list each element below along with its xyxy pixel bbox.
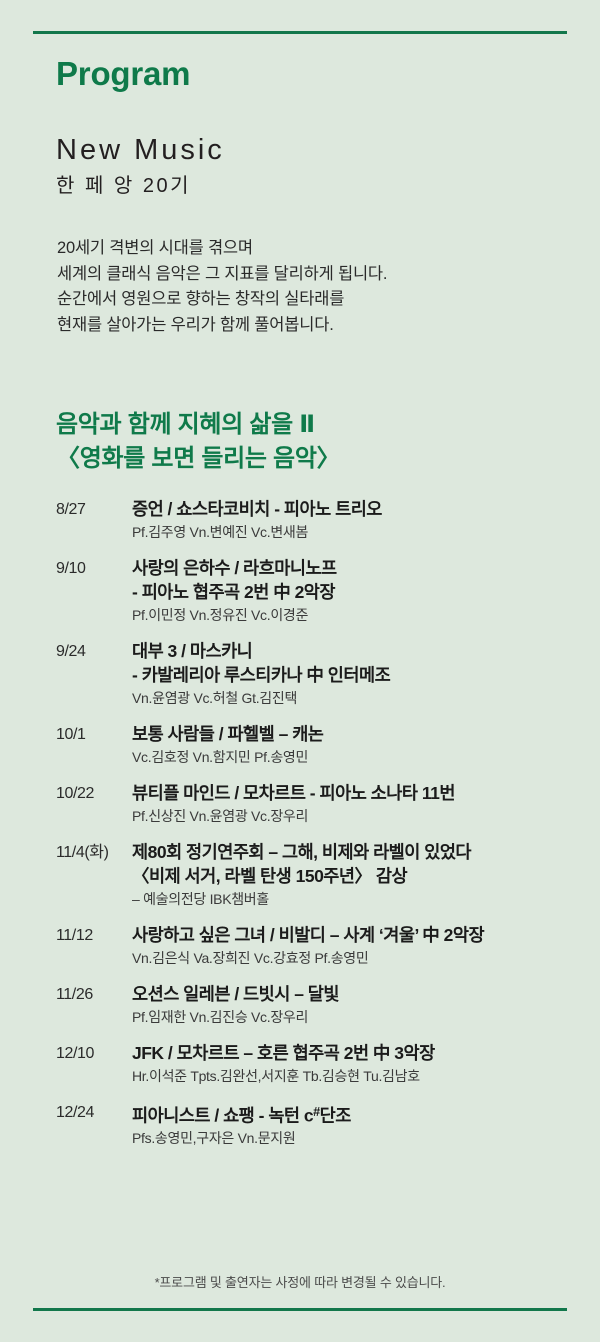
list-item: 11/26 오션스 일레븐 / 드빗시 – 달빛 Pf.임재한 Vn.김진승 V… [0,982,600,1028]
ensemble-name-korean: 한 페 앙 20기 [56,176,191,196]
entry-title-prefix: 피아니스트 / 쇼팽 - 녹턴 c [132,1105,313,1125]
entry-date: 11/4(화) [56,840,132,865]
program-poster: Program New Music 한 페 앙 20기 20세기 격변의 시대를… [0,0,600,1342]
entry-title: 사랑의 은하수 / 라흐마니노프 - 피아노 협주곡 2번 中 2악장 [132,556,600,604]
entry-performers: Vn.김은식 Va.장희진 Vc.강효정 Pf.송영민 [132,948,600,969]
entry-title: 사랑하고 싶은 그녀 / 비발디 – 사계 ‘겨울’ 中 2악장 [132,923,600,947]
entry-date: 10/22 [56,781,132,806]
program-list: 8/27 증언 / 쇼스타코비치 - 피아노 트리오 Pf.김주영 Vn.변예진… [0,497,600,1162]
list-item: 11/12 사랑하고 싶은 그녀 / 비발디 – 사계 ‘겨울’ 中 2악장 V… [0,923,600,969]
entry-date: 9/10 [56,556,132,581]
ensemble-name-english: New Music [56,136,225,165]
section-heading: 음악과 함께 지혜의 삶을 Ⅱ 〈영화를 보면 들리는 음악〉 [56,408,340,476]
entry-date: 10/1 [56,722,132,747]
entry-performers: Pf.임재한 Vn.김진승 Vc.장우리 [132,1007,600,1028]
list-item: 8/27 증언 / 쇼스타코비치 - 피아노 트리오 Pf.김주영 Vn.변예진… [0,497,600,543]
entry-title: 제80회 정기연주회 – 그해, 비제와 라벨이 있었다 〈비제 서거, 라벨 … [132,840,600,888]
entry-performers: Pf.이민정 Vn.정유진 Vc.이경준 [132,605,600,626]
entry-date: 11/26 [56,982,132,1007]
entry-performers: Hr.이석준 Tpts.김완선,서지훈 Tb.김승현 Tu.김남호 [132,1066,600,1087]
bottom-divider-rule [33,1308,567,1311]
entry-date: 12/24 [56,1100,132,1125]
entry-title: 피아니스트 / 쇼팽 - 녹턴 c#단조 [132,1100,600,1127]
entry-date: 11/12 [56,923,132,948]
entry-date: 8/27 [56,497,132,522]
entry-performers: Pfs.송영민,구자은 Vn.문지원 [132,1128,600,1149]
page-title: Program [56,57,190,90]
entry-title: 오션스 일레븐 / 드빗시 – 달빛 [132,982,600,1006]
list-item: 12/24 피아니스트 / 쇼팽 - 녹턴 c#단조 Pfs.송영민,구자은 V… [0,1100,600,1149]
entry-date: 12/10 [56,1041,132,1066]
entry-venue: – 예술의전당 IBK챔버홀 [132,889,600,910]
list-item: 11/4(화) 제80회 정기연주회 – 그해, 비제와 라벨이 있었다 〈비제… [0,840,600,910]
entry-performers: Pf.신상진 Vn.윤염광 Vc.장우리 [132,806,600,827]
entry-performers: Vc.김호정 Vn.함지민 Pf.송영민 [132,747,600,768]
list-item: 9/24 대부 3 / 마스카니 - 카발레리아 루스티카나 中 인터메조 Vn… [0,639,600,709]
entry-title: 뷰티플 마인드 / 모차르트 - 피아노 소나타 11번 [132,781,600,805]
footnote-disclaimer: *프로그램 및 출연자는 사정에 따라 변경될 수 있습니다. [0,1272,600,1291]
entry-performers: Pf.김주영 Vn.변예진 Vc.변새봄 [132,522,600,543]
entry-title: JFK / 모차르트 – 호른 협주곡 2번 中 3악장 [132,1041,600,1065]
top-divider-rule [33,31,567,34]
entry-performers: Vn.윤염광 Vc.허철 Gt.김진택 [132,688,600,709]
intro-paragraph: 20세기 격변의 시대를 겪으며 세계의 클래식 음악은 그 지표를 달리하게 … [57,236,387,338]
entry-title: 증언 / 쇼스타코비치 - 피아노 트리오 [132,497,600,521]
entry-date: 9/24 [56,639,132,664]
list-item: 9/10 사랑의 은하수 / 라흐마니노프 - 피아노 협주곡 2번 中 2악장… [0,556,600,626]
list-item: 10/22 뷰티플 마인드 / 모차르트 - 피아노 소나타 11번 Pf.신상… [0,781,600,827]
entry-title: 보통 사람들 / 파헬벨 – 캐논 [132,722,600,746]
entry-title: 대부 3 / 마스카니 - 카발레리아 루스티카나 中 인터메조 [132,639,600,687]
list-item: 12/10 JFK / 모차르트 – 호른 협주곡 2번 中 3악장 Hr.이석… [0,1041,600,1087]
entry-title-suffix: 단조 [320,1105,351,1125]
list-item: 10/1 보통 사람들 / 파헬벨 – 캐논 Vc.김호정 Vn.함지민 Pf.… [0,722,600,768]
